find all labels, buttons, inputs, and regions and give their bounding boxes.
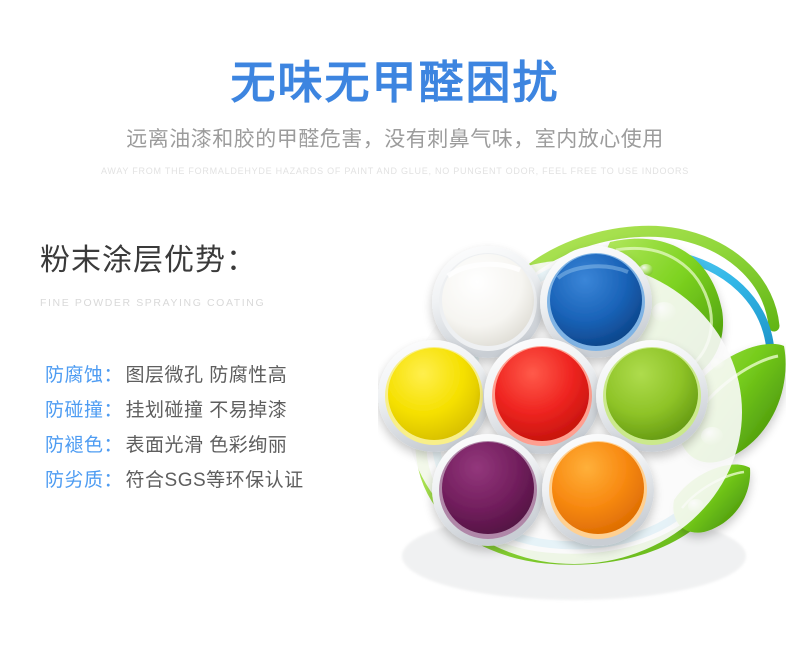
panel-heading: 粉末涂层优势：	[40, 243, 370, 279]
feature-colon: ：	[104, 470, 123, 491]
promo-banner-page: 无味无甲醛困扰 远离油漆和胶的甲醛危害，没有刺鼻气味，室内放心使用 AWAY F…	[0, 0, 790, 653]
list-item: 防碰撞：挂划碰撞 不易掉漆	[45, 393, 365, 428]
feature-key: 防劣质	[45, 470, 104, 491]
feature-key: 防腐蚀	[45, 365, 104, 386]
panel-heading-english: FINE POWDER SPRAYING COATING	[40, 297, 370, 309]
page-subtitle-english: AWAY FROM THE FORMALDEHYDE HAZARDS OF PA…	[0, 166, 790, 176]
feature-value: 挂划碰撞 不易掉漆	[126, 400, 288, 421]
feature-colon: ：	[104, 435, 123, 456]
page-subtitle: 远离油漆和胶的甲醛危害，没有刺鼻气味，室内放心使用	[0, 126, 790, 153]
orange-powder-cup	[542, 434, 654, 546]
feature-value: 图层微孔 防腐性高	[126, 365, 288, 386]
feature-key: 防褪色	[45, 435, 104, 456]
feature-key: 防碰撞	[45, 400, 104, 421]
list-item: 防褪色：表面光滑 色彩绚丽	[45, 428, 365, 463]
header-block: 无味无甲醛困扰 远离油漆和胶的甲醛危害，没有刺鼻气味，室内放心使用 AWAY F…	[0, 56, 790, 176]
feature-colon: ：	[104, 365, 123, 386]
purple-powder-cup	[432, 434, 544, 546]
list-item: 防劣质：符合SGS等环保认证	[45, 463, 365, 498]
advantages-list: 防腐蚀：图层微孔 防腐性高 防碰撞：挂划碰撞 不易掉漆 防褪色：表面光滑 色彩绚…	[45, 358, 365, 498]
feature-colon: ：	[104, 400, 123, 421]
feature-value: 符合SGS等环保认证	[126, 470, 304, 491]
green-powder-cup	[596, 340, 708, 452]
feature-value: 表面光滑 色彩绚丽	[126, 435, 288, 456]
powder-cups-illustration	[378, 206, 786, 606]
yellow-powder-cup	[378, 340, 490, 452]
list-item: 防腐蚀：图层微孔 防腐性高	[45, 358, 365, 393]
advantages-panel: 粉末涂层优势： FINE POWDER SPRAYING COATING 防腐蚀…	[40, 243, 370, 309]
page-title: 无味无甲醛困扰	[0, 56, 790, 109]
